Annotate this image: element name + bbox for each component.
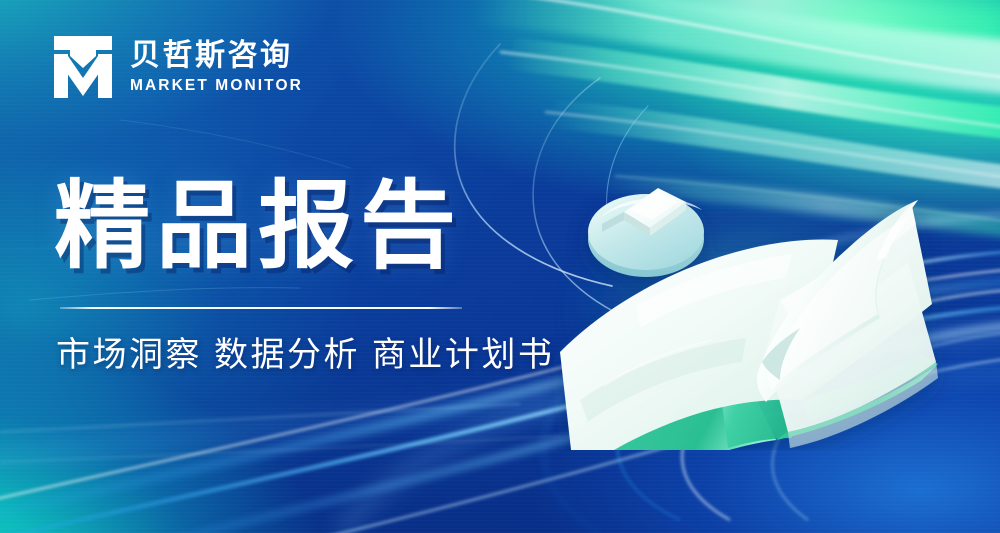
page-title: 精品报告: [54, 176, 462, 278]
logo-wordmark: 贝哲斯咨询 MARKET MONITOR: [130, 39, 303, 95]
logo-company-name-en: MARKET MONITOR: [130, 77, 303, 95]
brand-logo[interactable]: 贝哲斯咨询 MARKET MONITOR: [52, 34, 303, 100]
market-monitor-m-logo-icon: [52, 34, 114, 100]
page-subtitle: 市场洞察 数据分析 商业计划书: [56, 333, 554, 379]
logo-company-name-cn: 贝哲斯咨询: [130, 39, 303, 73]
open-book-illustration: [540, 150, 960, 450]
title-divider: [60, 307, 462, 309]
report-banner: 贝哲斯咨询 MARKET MONITOR 精品报告 市场洞察 数据分析 商业计划…: [0, 0, 1000, 533]
